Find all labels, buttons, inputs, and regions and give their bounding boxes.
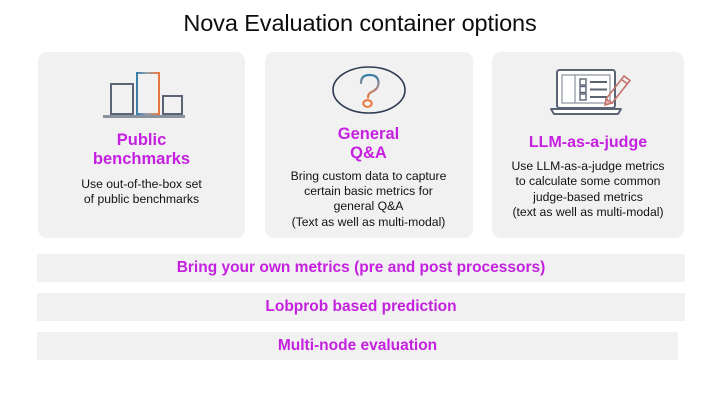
option-card-general-qa[interactable]: General Q&A Bring custom data to capture…	[265, 52, 473, 238]
feature-banner-list: Bring your own metrics (pre and post pro…	[37, 254, 685, 371]
card-body-text: Use out-of-the-box set of public benchma…	[81, 177, 202, 208]
banner-label: Multi-node evaluation	[278, 337, 437, 355]
card-body-text: Bring custom data to capture certain bas…	[291, 169, 447, 230]
card-heading: LLM-as-a-judge	[529, 133, 647, 152]
options-card-row: Public benchmarks Use out-of-the-box set…	[38, 52, 684, 238]
banner-label: Lobprob based prediction	[265, 298, 456, 316]
banner-label: Bring your own metrics (pre and post pro…	[177, 259, 546, 277]
card-body-text: Use LLM-as-a-judge metrics to calculate …	[511, 159, 664, 220]
slide-root: Nova Evaluation container options	[0, 0, 720, 405]
bar-chart-icon	[96, 64, 188, 126]
feature-banner-lobprob-based-prediction[interactable]: Lobprob based prediction	[37, 293, 685, 321]
option-card-llm-as-a-judge[interactable]: LLM-as-a-judge Use LLM-as-a-judge metric…	[492, 52, 684, 238]
option-card-public-benchmarks[interactable]: Public benchmarks Use out-of-the-box set…	[38, 52, 245, 238]
question-bubble-icon	[326, 62, 412, 120]
page-title: Nova Evaluation container options	[0, 8, 720, 38]
laptop-checklist-pencil-icon	[544, 62, 632, 124]
card-heading: General Q&A	[338, 125, 399, 163]
feature-banner-multi-node-evaluation[interactable]: Multi-node evaluation	[37, 332, 678, 360]
card-heading: Public benchmarks	[93, 131, 190, 169]
feature-banner-bring-your-own-metrics[interactable]: Bring your own metrics (pre and post pro…	[37, 254, 685, 282]
